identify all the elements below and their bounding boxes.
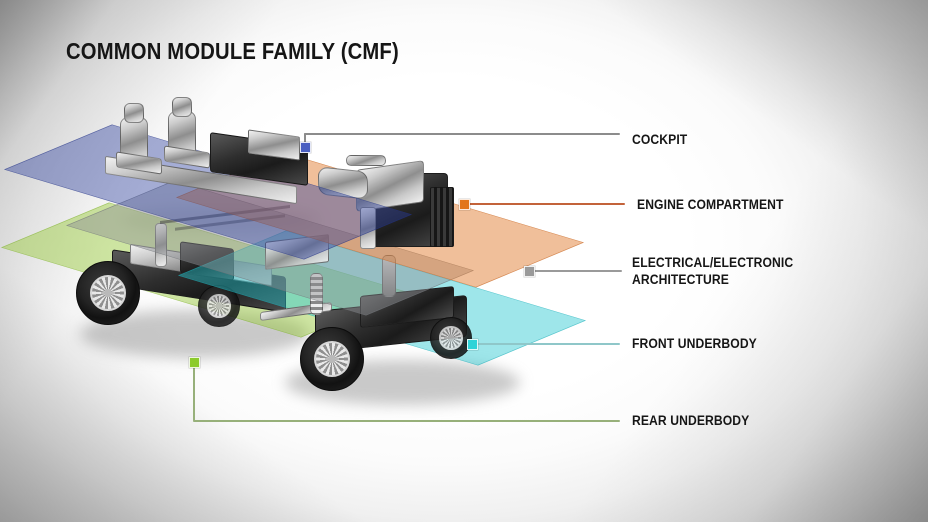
callout-label-cockpit: COCKPIT (632, 132, 687, 147)
electrical-architecture-marker[interactable] (524, 266, 535, 277)
engine-compartment-connector-line (468, 203, 625, 205)
front-wheel-right (430, 317, 472, 359)
callout-label-engine-compartment: ENGINE COMPARTMENT (637, 197, 784, 212)
slide-canvas: COMMON MODULE FAMILY (CMF) (0, 0, 928, 522)
cockpit-marker[interactable] (300, 142, 311, 153)
exploded-view-artwork (60, 95, 580, 415)
headrest-right (172, 97, 192, 117)
callout-label-electrical-architecture-line2: ARCHITECTURE (632, 272, 729, 287)
cockpit-connector-line (304, 133, 620, 135)
rear-underbody-connector-line (193, 420, 620, 422)
plane-cockpit (58, 117, 358, 267)
electrical-architecture-connector-line (533, 270, 622, 272)
callout-label-front-underbody: FRONT UNDERBODY (632, 336, 757, 351)
front-underbody-connector-line (476, 343, 620, 345)
callout-label-rear-underbody: REAR UNDERBODY (632, 413, 749, 428)
rear-underbody-connector-stem (193, 365, 195, 421)
page-title: COMMON MODULE FAMILY (CMF) (66, 40, 399, 63)
front-wheel-left (300, 327, 364, 391)
engine-compartment-marker[interactable] (459, 199, 470, 210)
rear-underbody-marker[interactable] (189, 357, 200, 368)
front-underbody-marker[interactable] (467, 339, 478, 350)
callout-label-electrical-architecture-line1: ELECTRICAL/ELECTRONIC (632, 255, 793, 270)
